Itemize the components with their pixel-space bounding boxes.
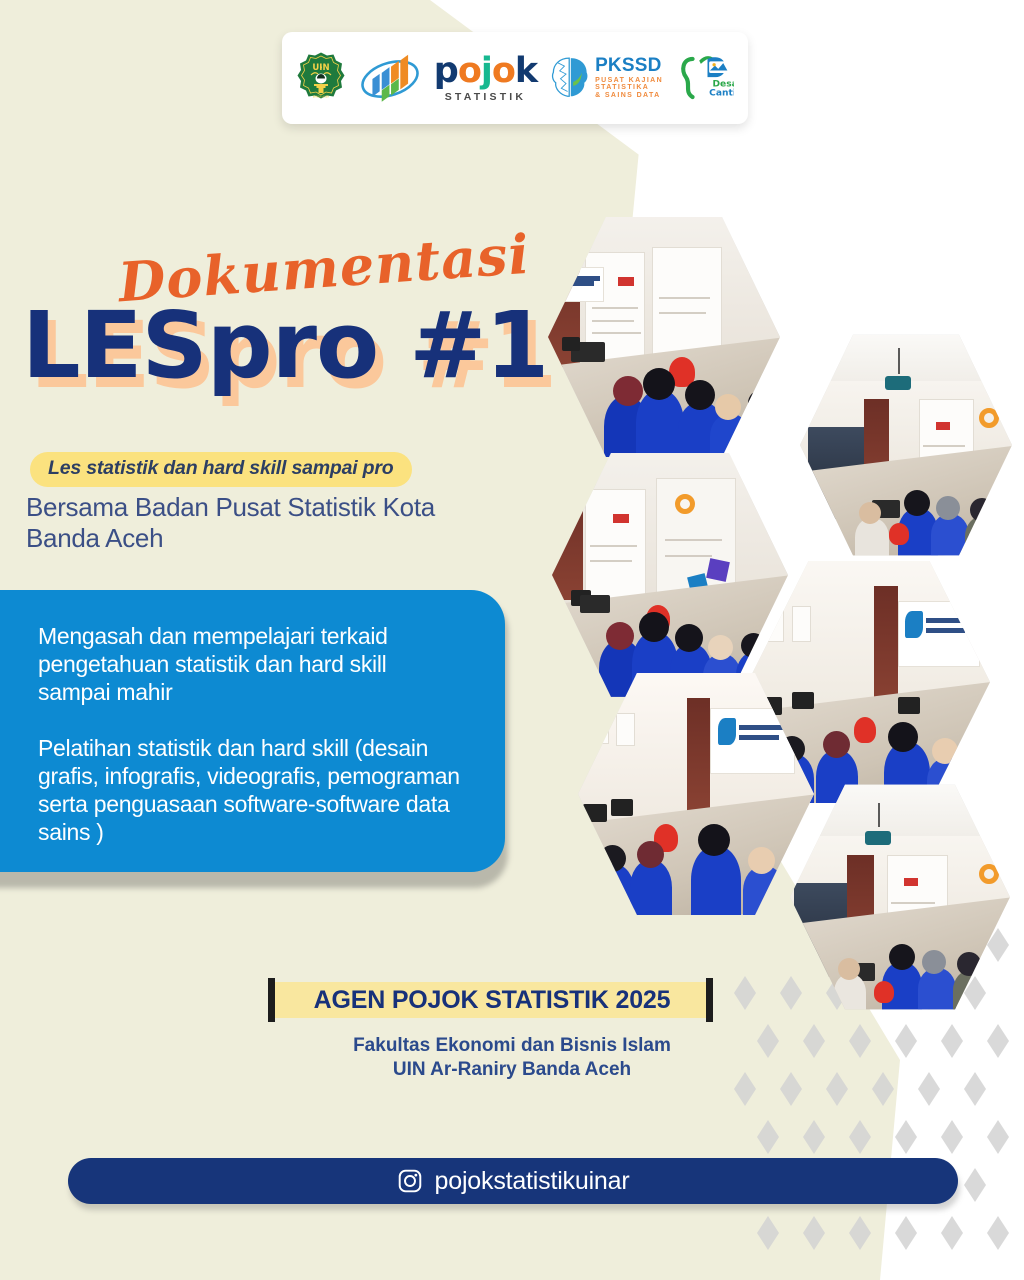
pojok-wordmark: pojok bbox=[434, 54, 537, 89]
photo-collage bbox=[0, 0, 1024, 1280]
faculty-line-2: UIN Ar-Raniry Banda Aceh bbox=[0, 1058, 1024, 1082]
desa-cantik-icon: Desa Cantik bbox=[676, 52, 734, 104]
faculty-line-1: Fakultas Ekonomi dan Bisnis Islam bbox=[0, 1034, 1024, 1058]
pojok-letter-o1: o bbox=[458, 51, 481, 91]
desa-cantik-line2: Cantik bbox=[709, 88, 734, 98]
photo-6-scene bbox=[790, 780, 1010, 1014]
poster-canvas: UIN BANDA ACEH po bbox=[0, 0, 1024, 1280]
faculty-block: Fakultas Ekonomi dan Bisnis Islam UIN Ar… bbox=[0, 1034, 1024, 1083]
pojok-statistik-logo: pojok STATISTIK bbox=[434, 54, 537, 103]
photo-3-scene bbox=[552, 448, 788, 702]
pojok-letter-j: j bbox=[481, 51, 492, 91]
desa-cantik-logo: Desa Cantik bbox=[676, 52, 734, 104]
agen-label: AGEN POJOK STATISTIK 2025 bbox=[272, 982, 712, 1018]
photo-meeting-room-1 bbox=[548, 212, 780, 462]
brain-icon bbox=[550, 55, 590, 101]
pkssd-logo: PKSSD PUSAT KAJIAN STATISTIKA & SAINS DA… bbox=[550, 55, 663, 101]
pojok-sublabel: STATISTIK bbox=[445, 92, 527, 103]
bps-logo bbox=[359, 52, 421, 104]
pojok-letter-k: k bbox=[515, 51, 537, 91]
instagram-bar[interactable]: pojokstatistikuinar bbox=[68, 1158, 958, 1204]
pojok-letter-o2: o bbox=[492, 51, 515, 91]
pkssd-subline-2: STATISTIKA bbox=[595, 84, 663, 92]
pkssd-subline-3: & SAINS DATA bbox=[595, 92, 663, 100]
photo-meeting-room-6 bbox=[790, 780, 1010, 1014]
partner-logo-bar: UIN BANDA ACEH po bbox=[282, 32, 748, 124]
photo-meeting-room-3 bbox=[552, 448, 788, 702]
agen-rule-right bbox=[706, 978, 713, 1022]
photo-2-scene bbox=[800, 330, 1012, 560]
uin-seal-icon: UIN BANDA ACEH bbox=[296, 51, 346, 105]
pojok-letter-p: p bbox=[434, 51, 458, 91]
pkssd-subline-1: PUSAT KAJIAN bbox=[595, 77, 663, 85]
photo-1-scene bbox=[548, 212, 780, 462]
pkssd-title: PKSSD bbox=[595, 56, 663, 77]
pkssd-text-block: PKSSD PUSAT KAJIAN STATISTIKA & SAINS DA… bbox=[595, 56, 663, 99]
bps-statistics-icon bbox=[359, 52, 421, 104]
photo-meeting-room-2 bbox=[800, 330, 1012, 560]
instagram-handle[interactable]: pojokstatistikuinar bbox=[435, 1167, 630, 1196]
instagram-icon[interactable] bbox=[397, 1168, 423, 1194]
svg-text:BANDA ACEH: BANDA ACEH bbox=[313, 95, 330, 99]
uin-ar-raniry-logo: UIN BANDA ACEH bbox=[296, 51, 346, 105]
